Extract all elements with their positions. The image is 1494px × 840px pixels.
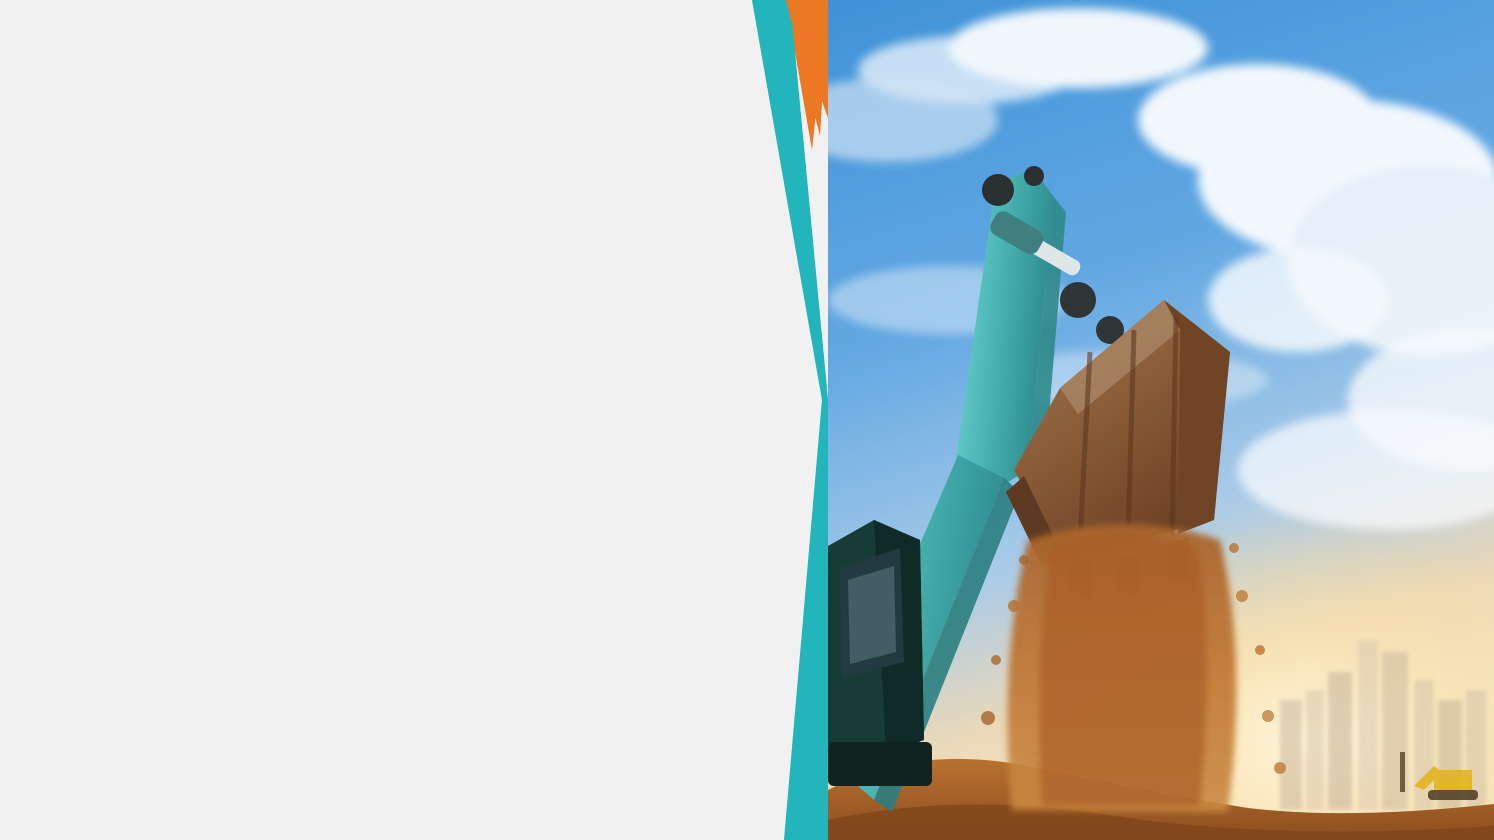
contact-item-phone-intl[interactable]: +1(646)-781-7170 (Int'l) (396, 714, 780, 762)
contact-list: help@24marketreports.com +1(646)-781-717… (396, 644, 780, 832)
phone-intl-text[interactable]: +1(646)-781-7170 (Int'l) (412, 723, 659, 751)
left-content-panel: Industrial Gearbox Market Rising Best Te… (0, 0, 830, 840)
published-date: 31 January 2020 (206, 458, 418, 491)
published-line: Published on:31 January 2020 (36, 455, 418, 495)
brand-logo[interactable]: 24MR MARKET REPORTS (8, 638, 344, 830)
contact-item-email[interactable]: help@24marketreports.com (396, 644, 780, 692)
phone-asia-text[interactable]: +91 8087042414 (Asia) (412, 793, 651, 821)
svg-text:24MR: 24MR (14, 709, 176, 778)
headline-keyword: Industrial Gearbox (36, 210, 306, 246)
contact-item-phone-asia[interactable]: +91 8087042414 (Asia) (396, 784, 780, 832)
speaker-volume-icon[interactable] (6, 10, 78, 83)
svg-text:MARKET REPORTS: MARKET REPORTS (14, 779, 344, 830)
press-release-banner: Industrial Gearbox Market Rising Best Te… (0, 0, 1494, 840)
email-link[interactable]: help@24marketreports.com (412, 653, 691, 681)
published-label: Published on: (36, 458, 200, 491)
hero-photo-excavator (828, 0, 1494, 840)
page-title: Industrial Gearbox Market Rising Best Te… (36, 205, 796, 393)
